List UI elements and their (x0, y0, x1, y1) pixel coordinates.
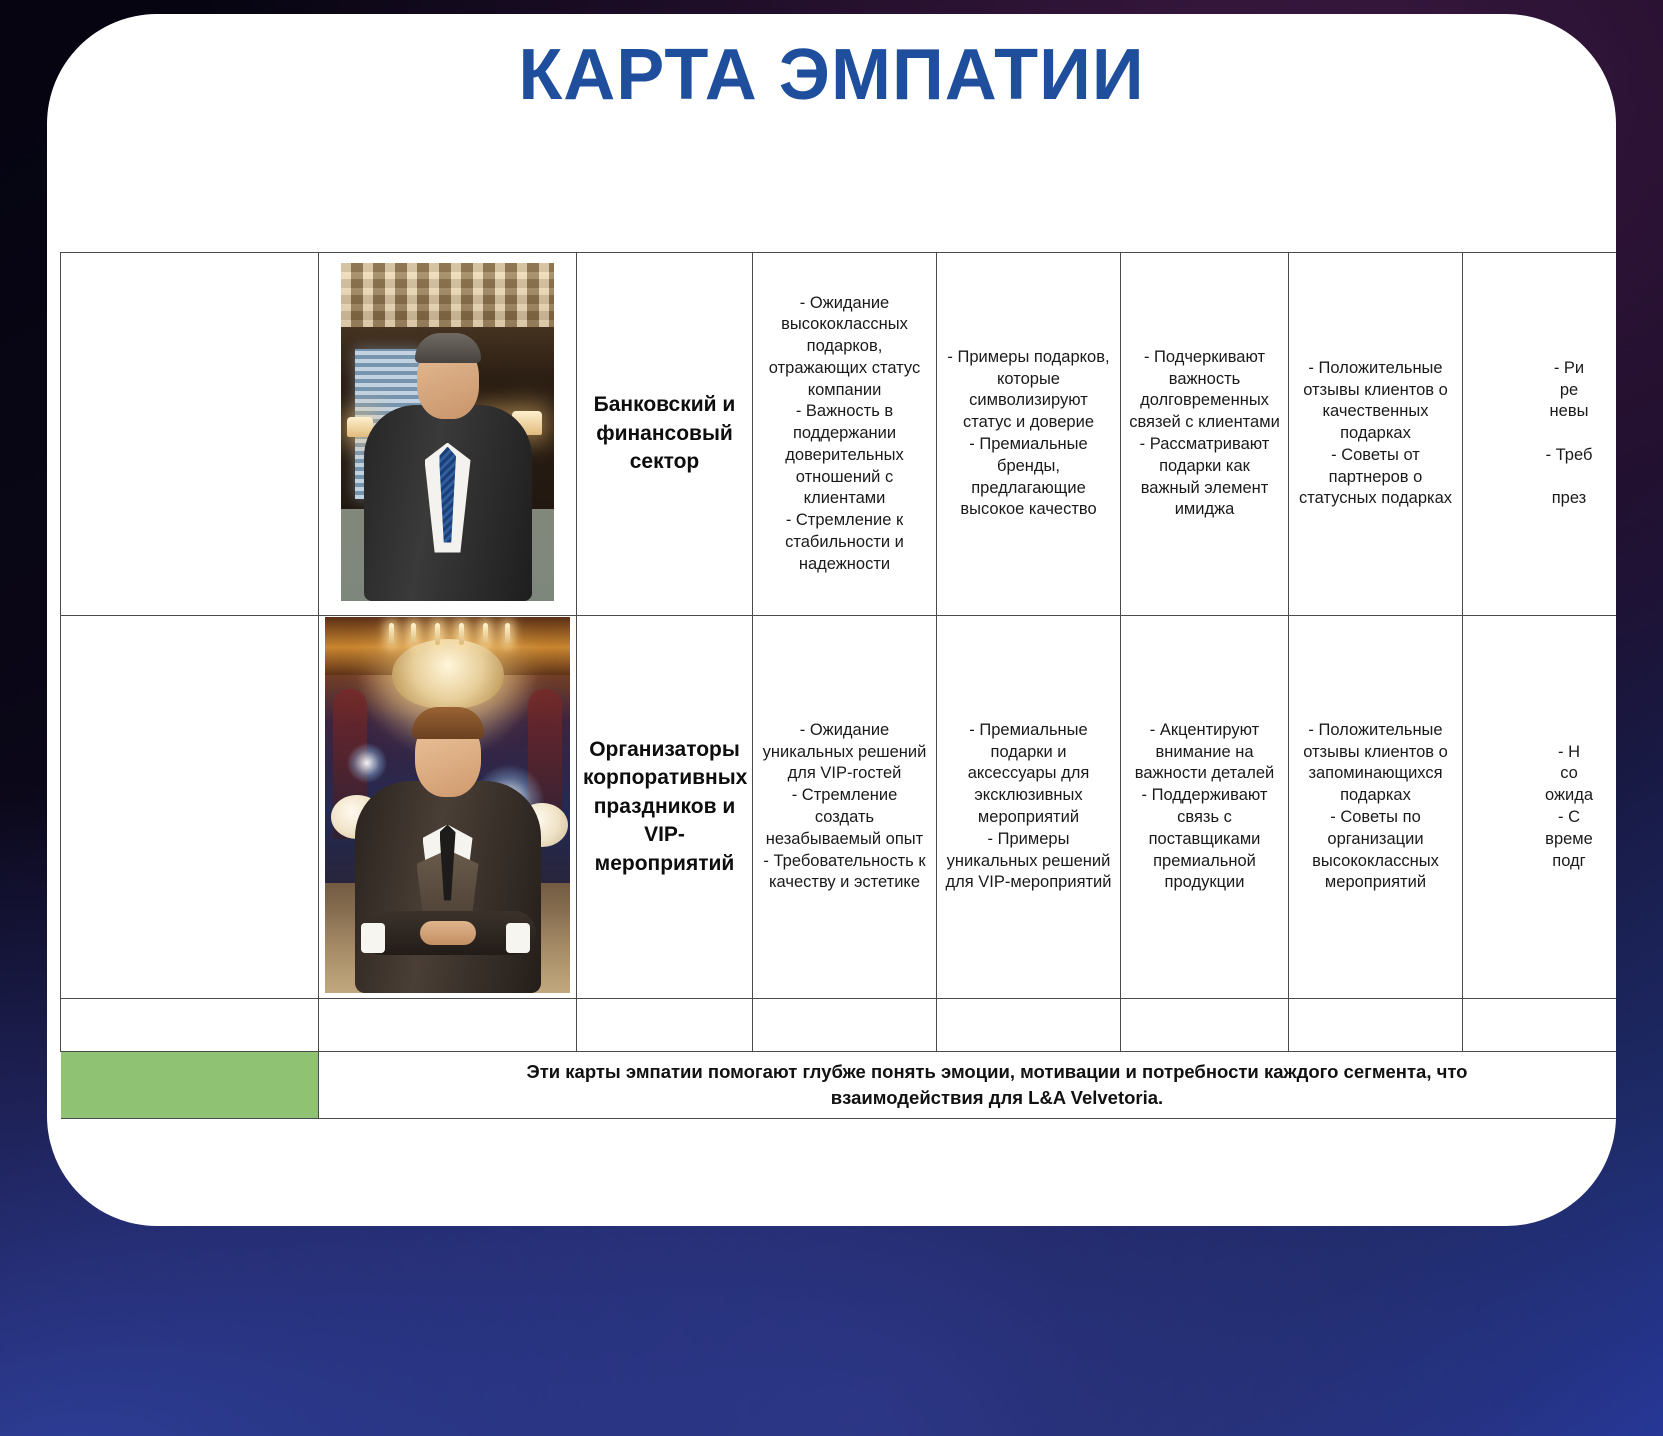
empty-cell (1121, 999, 1289, 1052)
table-row: Банковский и финансовый сектор - Ожидани… (61, 253, 1617, 616)
slide-card: КАРТА ЭМПАТИИ (47, 14, 1616, 1226)
empty-cell (577, 999, 753, 1052)
think-feel-cell: - Ожидание уникальных решений для VIP-го… (753, 616, 937, 999)
segment-label: Банковский и финансовый сектор (577, 387, 752, 481)
banker-photo (341, 263, 554, 601)
see-cell: - Премиальные подарки и аксессуары для э… (937, 616, 1121, 999)
empathy-table-container: Банковский и финансовый сектор - Ожидани… (60, 252, 1616, 1112)
row-left-spacer (61, 616, 319, 999)
segment-name-cell: Организаторы корпоративных праздников и … (577, 616, 753, 999)
row-left-spacer (61, 253, 319, 616)
event-organizer-photo (325, 617, 570, 993)
pain-cell: - Н со ожида - С време подг (1463, 616, 1617, 999)
slide-stage: КАРТА ЭМПАТИИ (0, 0, 1663, 1436)
segment-name-cell: Банковский и финансовый сектор (577, 253, 753, 616)
spotlight-art (347, 743, 387, 783)
row-left-spacer (61, 999, 319, 1052)
empty-cell (937, 999, 1121, 1052)
chandelier-icon (392, 639, 504, 709)
hands-art (420, 921, 476, 945)
candle-icon (459, 623, 464, 645)
empty-cell (1463, 999, 1617, 1052)
empty-cell (753, 999, 937, 1052)
hear-text: - Положительные отзывы клиентов о запоми… (1289, 716, 1462, 898)
cuff-art (361, 923, 385, 953)
hear-cell: - Положительные отзывы клиентов о запоми… (1289, 616, 1463, 999)
segment-photo-cell (319, 616, 577, 999)
empty-cell (1289, 999, 1463, 1052)
empathy-table: Банковский и финансовый сектор - Ожидани… (60, 252, 1616, 1119)
candle-icon (505, 623, 510, 645)
say-do-text: - Акцентируют внимание на важности детал… (1121, 716, 1288, 898)
see-text: - Примеры подарков, которые символизирую… (937, 343, 1120, 525)
pain-text: - Ри ре невы - Треб през (1463, 354, 1616, 514)
hear-text: - Положительные отзывы клиентов о качест… (1289, 354, 1462, 514)
see-cell: - Примеры подарков, которые символизирую… (937, 253, 1121, 616)
think-feel-text: - Ожидание высококлассных подарков, отра… (753, 289, 936, 580)
candle-icon (435, 623, 440, 645)
pain-text: - Н со ожида - С време подг (1463, 738, 1616, 877)
candle-icon (389, 623, 394, 645)
cuff-art (506, 923, 530, 953)
segment-photo-cell (319, 253, 577, 616)
summary-text: Эти карты эмпатии помогают глубже понять… (319, 1055, 1616, 1115)
candle-icon (483, 623, 488, 645)
ceiling-art (341, 263, 554, 327)
table-row: Организаторы корпоративных праздников и … (61, 616, 1617, 999)
page-title: КАРТА ЭМПАТИИ (47, 36, 1616, 115)
pain-cell: - Ри ре невы - Треб през (1463, 253, 1617, 616)
say-do-cell: - Подчеркивают важность долговременных с… (1121, 253, 1289, 616)
summary-row: Эти карты эмпатии помогают глубже понять… (61, 1052, 1617, 1119)
hair-art (415, 333, 481, 363)
table-row-empty (61, 999, 1617, 1052)
say-do-text: - Подчеркивают важность долговременных с… (1121, 343, 1288, 525)
hear-cell: - Положительные отзывы клиентов о качест… (1289, 253, 1463, 616)
summary-cell: Эти карты эмпатии помогают глубже понять… (319, 1052, 1617, 1119)
candle-icon (411, 623, 416, 645)
say-do-cell: - Акцентируют внимание на важности детал… (1121, 616, 1289, 999)
segment-label: Организаторы корпоративных праздников и … (577, 732, 752, 883)
think-feel-cell: - Ожидание высококлассных подарков, отра… (753, 253, 937, 616)
summary-left-spacer (61, 1052, 319, 1119)
see-text: - Премиальные подарки и аксессуары для э… (937, 716, 1120, 898)
think-feel-text: - Ожидание уникальных решений для VIP-го… (753, 716, 936, 898)
hair-art (412, 707, 484, 739)
empty-cell (319, 999, 577, 1052)
